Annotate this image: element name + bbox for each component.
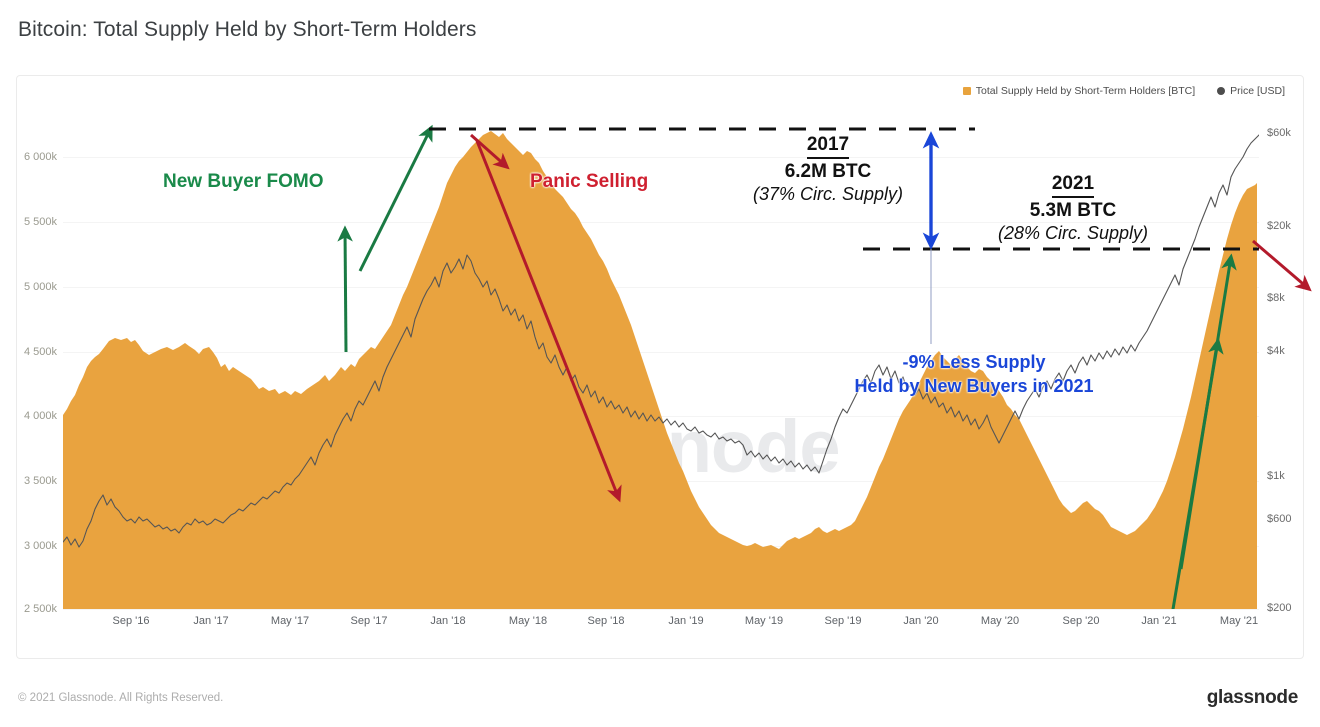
y-axis-right-tick: $60k	[1267, 127, 1291, 139]
y-axis-left-tick: 4 500k	[24, 346, 57, 358]
y-axis-left-tick: 3 500k	[24, 475, 57, 487]
x-axis-tick: Jan '17	[193, 615, 228, 627]
chart-page: Bitcoin: Total Supply Held by Short-Term…	[0, 0, 1320, 727]
y-axis-right-tick: $1k	[1267, 470, 1285, 482]
square-swatch-icon	[963, 87, 971, 95]
x-axis-tick: May '20	[981, 615, 1019, 627]
x-axis-tick: Sep '18	[588, 615, 625, 627]
legend-label-price: Price [USD]	[1230, 85, 1285, 97]
chart-panel: Total Supply Held by Short-Term Holders …	[16, 75, 1304, 659]
legend-item-supply[interactable]: Total Supply Held by Short-Term Holders …	[963, 85, 1195, 97]
legend-label-supply: Total Supply Held by Short-Term Holders …	[976, 85, 1195, 97]
chart-legend: Total Supply Held by Short-Term Holders …	[963, 85, 1285, 97]
annotation-2021-year-wrap: 2021	[948, 173, 1198, 198]
x-axis-tick: May '21	[1220, 615, 1258, 627]
annotation-2017-year-wrap: 2017	[703, 134, 953, 159]
red-arrow-overlay	[1213, 219, 1320, 329]
x-axis-tick: May '18	[509, 615, 547, 627]
x-axis-tick: Sep '17	[351, 615, 388, 627]
y-axis-right-tick: $200	[1267, 602, 1291, 614]
annotation-delta-line2: Held by New Buyers in 2021	[839, 376, 1109, 397]
page-title: Bitcoin: Total Supply Held by Short-Term…	[18, 18, 476, 42]
plot-area: 6 000k 5 500k 5 000k 4 500k 4 000k 3 500…	[63, 109, 1259, 638]
y-axis-right-tick: $4k	[1267, 345, 1285, 357]
x-axis-tick: Jan '20	[903, 615, 938, 627]
y-axis-right-tick: $600	[1267, 513, 1291, 525]
x-axis-tick: May '19	[745, 615, 783, 627]
x-axis-tick: Jan '18	[430, 615, 465, 627]
annotation-panic-selling: Panic Selling	[530, 171, 648, 193]
x-axis-tick: May '17	[271, 615, 309, 627]
circle-swatch-icon	[1217, 87, 1225, 95]
annotation-2017-year: 2017	[807, 134, 849, 159]
green-arrow-fomo-long	[360, 128, 431, 271]
green-arrow-fomo-short	[345, 229, 346, 352]
y-axis-left-tick: 4 000k	[24, 410, 57, 422]
x-axis-tick: Sep '20	[1063, 615, 1100, 627]
annotation-2021-supply: (28% Circ. Supply)	[948, 223, 1198, 244]
y-axis-left-tick: 3 000k	[24, 540, 57, 552]
annotation-new-buyer-fomo: New Buyer FOMO	[163, 171, 323, 193]
legend-item-price[interactable]: Price [USD]	[1217, 85, 1285, 97]
y-axis-left-tick: 5 500k	[24, 216, 57, 228]
x-axis-tick: Sep '19	[825, 615, 862, 627]
x-axis-tick: Sep '16	[113, 615, 150, 627]
footer-copyright: © 2021 Glassnode. All Rights Reserved.	[18, 692, 223, 704]
gridline	[63, 609, 1259, 610]
annotation-2017-supply: (37% Circ. Supply)	[703, 184, 953, 205]
x-axis-tick: Jan '19	[668, 615, 703, 627]
annotation-2021-year: 2021	[1052, 173, 1094, 198]
annotation-2017-peak: 2017 6.2M BTC (37% Circ. Supply)	[703, 134, 953, 205]
annotation-2021-btc: 5.3M BTC	[948, 200, 1198, 222]
annotation-delta-supply: -9% Less Supply Held by New Buyers in 20…	[839, 352, 1109, 397]
y-axis-left-tick: 5 000k	[24, 281, 57, 293]
annotation-2017-btc: 6.2M BTC	[703, 161, 953, 183]
annotation-delta-line1: -9% Less Supply	[839, 352, 1109, 373]
x-axis-tick: Jan '21	[1141, 615, 1176, 627]
y-axis-left-tick: 2 500k	[24, 603, 57, 615]
brand-logo: glassnode	[1207, 687, 1298, 709]
annotation-2021-peak: 2021 5.3M BTC (28% Circ. Supply)	[948, 173, 1198, 244]
y-axis-left-tick: 6 000k	[24, 151, 57, 163]
red-arrow-decline-path	[1253, 241, 1309, 289]
